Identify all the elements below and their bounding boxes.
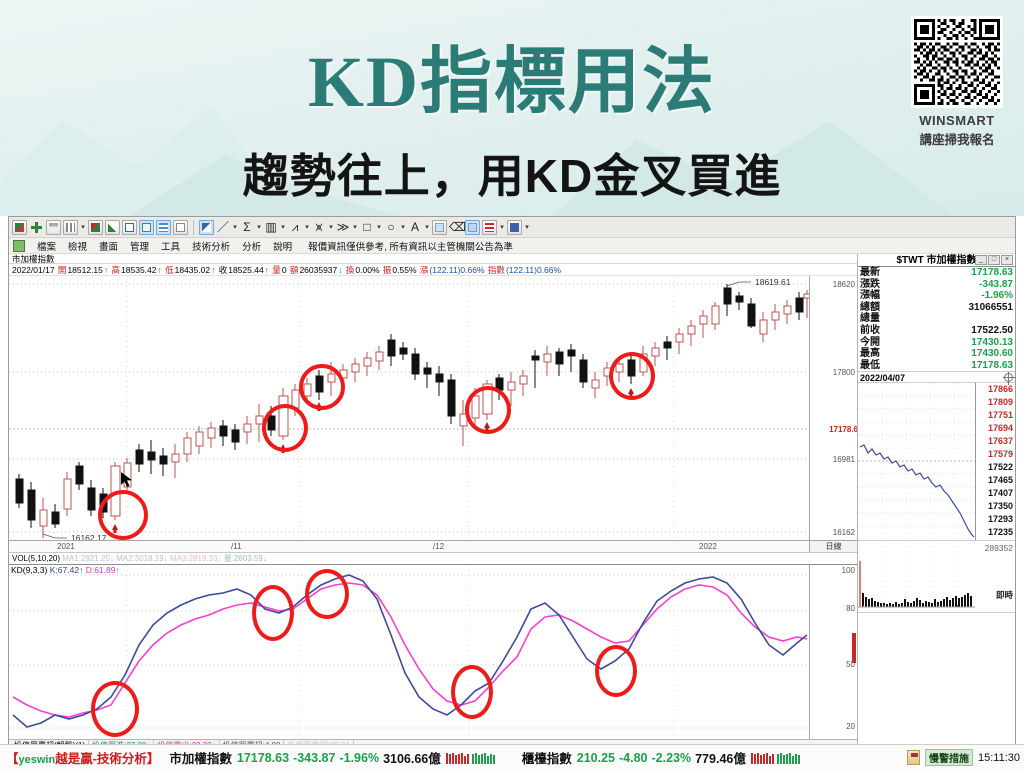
color-chart-icon[interactable] xyxy=(88,220,103,235)
kd-y-axis: 100 80 50 20 xyxy=(809,565,857,739)
ladder-price-k-0: 17522 xyxy=(988,462,1013,472)
kd-y-tick-20: 20 xyxy=(846,722,855,731)
ohlc-close-label: 收 xyxy=(219,265,228,275)
text-tool-icon[interactable]: A xyxy=(408,220,422,235)
status-item1-amount: 3106.66億 xyxy=(383,748,441,767)
ohlc-low-arrow: ↑ xyxy=(211,265,215,275)
intraday-volume-plot xyxy=(858,541,975,612)
ladder-price-k-4: 17293 xyxy=(988,514,1013,524)
quote-value-low: 17178.63 xyxy=(971,360,1013,372)
crosshair-icon[interactable] xyxy=(29,220,44,235)
kd-k-value: K:67.42↑ xyxy=(50,565,84,575)
status-item2-amount: 779.46億 xyxy=(695,748,746,767)
gann-dropdown-arrow-icon[interactable]: ▾ xyxy=(304,220,310,235)
volume-ma2: MA2:3018.19↓ xyxy=(116,554,168,563)
quote-rows: 最新17178.63 漲跌-343.87 漲幅-1.96% 總額31066551… xyxy=(858,267,1015,371)
save-dropdown-arrow-icon[interactable]: ▾ xyxy=(524,220,530,235)
settings-window-icon[interactable] xyxy=(465,220,480,235)
fibonacci-tool-icon[interactable]: Σ xyxy=(240,220,254,235)
slide-subtitle: 趨勢往上，用KD金叉買進 xyxy=(0,140,1024,206)
eraser-icon[interactable]: ⌫ xyxy=(449,220,463,235)
status-brand-yeswin: yeswin xyxy=(19,754,56,766)
candlestick-plot: 16162.17 18619.61 xyxy=(9,276,809,540)
ohlc-date: 2022/01/17 xyxy=(12,265,55,275)
period-label[interactable]: 日線 xyxy=(809,540,857,552)
status-item2-pct: -2.23% xyxy=(652,751,692,765)
ohlc-change-value: (122.11)0.66% xyxy=(429,265,484,275)
save-icon[interactable] xyxy=(507,220,522,235)
ohlc-turnover-label: 換 xyxy=(346,265,355,275)
gann-tool-icon[interactable]: ⩘ xyxy=(288,220,302,235)
quote-row-total-volume: 總量 xyxy=(860,313,1013,325)
quote-date-text: 2022/04/07 xyxy=(860,373,905,383)
app-logo-icon xyxy=(13,240,25,252)
wave-tool-icon[interactable]: ≫ xyxy=(336,220,350,235)
menu-item-analysis[interactable]: 分析 xyxy=(236,239,267,253)
ladder-price-k-2: 17407 xyxy=(988,488,1013,498)
status-item1-sparkline xyxy=(446,752,498,764)
kd-d-value: D:61.89↑ xyxy=(86,565,120,575)
status-bar-right: 慢警措施 15:11:30 xyxy=(907,749,1024,766)
quote-row-change: 漲跌-343.87 xyxy=(860,279,1013,291)
channel-dropdown-arrow-icon[interactable]: ▾ xyxy=(280,220,286,235)
volume-indicator-title: VOL(5,10,20) xyxy=(12,554,60,563)
kd-indicator-panel[interactable]: KD(9,3,3) K:67.42↑ D:61.89↑ xyxy=(9,564,857,739)
ladder-price-k-1: 17465 xyxy=(988,475,1013,485)
quote-key-total-amount: 總額 xyxy=(860,302,880,314)
trendline-dropdown-arrow-icon[interactable]: ▾ xyxy=(232,220,238,235)
window-controls: _ □ × xyxy=(975,255,1013,265)
ladder-price-k-3: 17350 xyxy=(988,501,1013,511)
layout-icon[interactable] xyxy=(46,220,61,235)
slide-root: KD指標用法 趨勢往上，用KD金叉買進 xyxy=(0,0,1024,770)
price-x-tick-3: 2022 xyxy=(699,542,717,551)
ohlc-close-arrow: ↑ xyxy=(265,265,269,275)
ohlc-amount-label: 額 xyxy=(290,265,299,275)
quote-key-low: 最低 xyxy=(860,360,880,372)
chart-area: 市加權指數 2022/01/17 開18512.15↑ 高18535.42↑ 低… xyxy=(9,254,857,763)
symbol-header: 市加權指數 xyxy=(9,254,857,264)
channel-tool-icon[interactable]: ▥ xyxy=(264,220,278,235)
ellipse-dropdown-arrow-icon[interactable]: ▾ xyxy=(400,220,406,235)
menu-item-file[interactable]: 檔案 xyxy=(31,239,62,253)
title-banner: KD指標用法 趨勢往上，用KD金叉買進 xyxy=(0,0,1024,216)
quote-value-total-amount: 31066551 xyxy=(969,302,1014,314)
kd-current-marker xyxy=(852,633,856,663)
ohlc-turnover-value: 0.00% xyxy=(355,265,379,275)
bell-icon[interactable] xyxy=(907,750,920,765)
price-x-tick-2: /12 xyxy=(433,542,444,551)
ohlc-volume-value: 0 xyxy=(282,265,287,275)
ladder-price-r-3: 17694 xyxy=(988,423,1013,433)
blue-window-icon[interactable] xyxy=(122,220,137,235)
ohlc-open-value: 18512.15 xyxy=(67,265,102,275)
status-item1-change: -343.87 xyxy=(293,751,335,765)
status-brand-text: 越是贏-技術分析 xyxy=(55,752,147,766)
quote-panel-filler xyxy=(858,613,1015,749)
price-current-label: 17178.6 xyxy=(829,425,858,434)
price-y-tick-3: 16162 xyxy=(833,528,855,537)
columns-icon[interactable] xyxy=(63,220,78,235)
price-y-tick-0: 18620 xyxy=(833,280,855,289)
kd-header: KD(9,3,3) K:67.42↑ D:61.89↑ xyxy=(11,565,120,575)
trading-app-window: ▾ ／ ▾ Σ ▾ ▥ ▾ ⩘ ▾ ⩙ ▾ ≫ ▾ □ ▾ ○ ▾ A xyxy=(8,216,1016,762)
ohlc-high-value: 18535.42 xyxy=(121,265,156,275)
status-item1-pct: -1.96% xyxy=(339,751,379,765)
quote-row-open: 今開17430.13 xyxy=(860,337,1013,349)
price-y-axis: 18620 17800 17178.6 16981 16162 xyxy=(809,276,857,552)
kd-title: KD(9,3,3) xyxy=(11,565,47,575)
maximize-button[interactable]: □ xyxy=(988,255,1000,265)
ohlc-change-label: 漲 xyxy=(420,265,429,275)
new-chart-icon[interactable] xyxy=(12,220,27,235)
toolbar-separator-1 xyxy=(193,220,194,235)
ladder-price-r-0: 17866 xyxy=(988,384,1013,394)
volume-value: 量:2603.59↓ xyxy=(224,554,267,563)
pitchfork-tool-icon[interactable]: ⩙ xyxy=(312,220,326,235)
price-ladder: 17866 17809 17751 17694 17637 17579 1752… xyxy=(975,383,1015,540)
ohlc-amplitude-value: 0.55% xyxy=(392,265,416,275)
rectangle-tool-icon[interactable]: □ xyxy=(360,220,374,235)
menu-bar: 檔案 檢視 畫面 管理 工具 技術分析 分析 說明 報價資訊僅供參考, 所有資訊… xyxy=(9,238,1015,254)
status-item2-sparkline xyxy=(751,752,803,764)
intraday-plot xyxy=(858,383,975,540)
green-chart-icon[interactable] xyxy=(105,220,120,235)
qr-caption-label: 講座掃我報名 xyxy=(904,129,1010,148)
volume-indicator-strip[interactable]: VOL(5,10,20) MA1:2921.20↓ MA2:3018.19↓ M… xyxy=(9,552,857,564)
quote-key-open: 今開 xyxy=(860,337,880,349)
svg-text:16162.17: 16162.17 xyxy=(71,533,107,540)
quote-value-open: 17430.13 xyxy=(971,337,1013,349)
status-item1-name[interactable]: 市加權指數 xyxy=(169,748,232,767)
quote-row-total-amount: 總額31066551 xyxy=(860,302,1013,314)
quote-value-prev-close: 17522.50 xyxy=(971,325,1013,337)
ohlc-low-value: 18435.02 xyxy=(175,265,210,275)
qr-brand-label: WINSMART xyxy=(904,113,1010,128)
intraday-volume-label: 即時 xyxy=(996,589,1013,601)
kd-y-tick-80: 80 xyxy=(846,604,855,613)
ohlc-volume-label: 量 xyxy=(272,265,281,275)
intraday-volume-max: 289352 xyxy=(985,543,1013,553)
svg-text:18619.61: 18619.61 xyxy=(755,277,791,287)
search-window-icon[interactable] xyxy=(173,220,188,235)
intraday-volume-chart[interactable]: 289352 即時 xyxy=(858,541,1015,613)
clock-label: 15:11:30 xyxy=(978,752,1020,764)
ohlc-high-label: 高 xyxy=(112,265,121,275)
kd-plot xyxy=(9,565,809,739)
menu-item-technical-analysis[interactable]: 技術分析 xyxy=(186,239,236,253)
ohlc-open-arrow: ↑ xyxy=(104,265,108,275)
ladder-price-r-4: 17637 xyxy=(988,436,1013,446)
price-y-tick-1: 17800 xyxy=(833,368,855,377)
minimize-button[interactable]: _ xyxy=(975,255,987,265)
quote-key-high: 最高 xyxy=(860,348,880,360)
status-brand-open: 【 xyxy=(6,752,19,766)
ladder-price-r-2: 17751 xyxy=(988,410,1013,420)
teal-window-icon[interactable] xyxy=(139,220,154,235)
menu-item-tools[interactable]: 工具 xyxy=(155,239,186,253)
ladder-price-k-5: 17235 xyxy=(988,527,1013,537)
quote-key-change-pct: 漲幅 xyxy=(860,290,880,302)
list-icon[interactable] xyxy=(482,220,497,235)
candlestick-chart[interactable]: 16162.17 18619.61 xyxy=(9,276,857,552)
status-item2-change: -4.80 xyxy=(619,751,648,765)
price-x-tick-1: /11 xyxy=(231,542,242,551)
status-brand-close: 】 xyxy=(147,752,160,766)
ohlc-open-label: 開 xyxy=(58,265,67,275)
quote-panel: $TWT 市加權指數 最新17178.63 漲跌-343.87 漲幅-1.96%… xyxy=(857,254,1015,763)
copy-icon[interactable] xyxy=(432,220,447,235)
quote-value-last: 17178.63 xyxy=(971,267,1013,279)
qr-block: WINSMART 講座掃我報名 xyxy=(904,16,1010,148)
quote-row-prev-close: 前收17522.50 xyxy=(860,325,1013,337)
ohlc-info-line: 2022/01/17 開18512.15↑ 高18535.42↑ 低18435.… xyxy=(9,264,857,276)
price-x-axis: 2021 /11 /12 2022 xyxy=(9,540,809,552)
wave-dropdown-arrow-icon[interactable]: ▾ xyxy=(352,220,358,235)
multi-window-icon[interactable] xyxy=(156,220,171,235)
menu-item-screen[interactable]: 畫面 xyxy=(93,239,124,253)
price-x-tick-0: 2021 xyxy=(57,542,75,551)
close-button[interactable]: × xyxy=(1001,255,1013,265)
status-brand: 【yeswin越是贏-技術分析】 xyxy=(6,748,159,767)
quote-date: 2022/04/07 xyxy=(858,371,1015,383)
quote-row-last: 最新17178.63 xyxy=(860,267,1013,279)
ellipse-tool-icon[interactable]: ○ xyxy=(384,220,398,235)
quote-key-prev-close: 前收 xyxy=(860,325,880,337)
rectangle-dropdown-arrow-icon[interactable]: ▾ xyxy=(376,220,382,235)
quote-key-last: 最新 xyxy=(860,267,880,279)
text-dropdown-arrow-icon[interactable]: ▾ xyxy=(424,220,430,235)
menu-item-view[interactable]: 檢視 xyxy=(62,239,93,253)
ohlc-low-label: 低 xyxy=(165,265,174,275)
status-item2-name[interactable]: 櫃檯指數 xyxy=(522,748,572,767)
quote-value-change-pct: -1.96% xyxy=(981,290,1013,302)
draw-tool-icon[interactable] xyxy=(199,220,214,235)
qr-code-icon xyxy=(911,16,1003,108)
intraday-chart[interactable]: 17866 17809 17751 17694 17637 17579 1752… xyxy=(858,383,1015,541)
fibonacci-dropdown-arrow-icon[interactable]: ▾ xyxy=(256,220,262,235)
price-y-tick-2: 16981 xyxy=(833,455,855,464)
slide-title: KD指標用法 xyxy=(0,22,1024,127)
pitchfork-dropdown-arrow-icon[interactable]: ▾ xyxy=(328,220,334,235)
ohlc-amount-arrow: ↓ xyxy=(338,265,342,275)
kd-y-tick-100: 100 xyxy=(842,566,855,575)
quote-row-high: 最高17430.60 xyxy=(860,348,1013,360)
quote-row-low: 最低17178.63 xyxy=(860,360,1013,372)
status-item2-price: 210.25 xyxy=(577,751,615,765)
list-dropdown-arrow-icon[interactable]: ▾ xyxy=(499,220,505,235)
quote-value-change: -343.87 xyxy=(979,279,1013,291)
ohlc-amount-value: 26035937 xyxy=(299,265,337,275)
quote-key-total-volume: 總量 xyxy=(860,313,880,325)
trendline-tool-icon[interactable]: ／ xyxy=(216,220,230,235)
status-bar: 【yeswin越是贏-技術分析】 市加權指數 17178.63 -343.87 … xyxy=(0,744,1024,770)
volume-ma3: MA3:2819.33↓ xyxy=(170,554,222,563)
status-item1-price: 17178.63 xyxy=(237,751,289,765)
quote-value-high: 17430.60 xyxy=(971,348,1013,360)
quote-row-change-pct: 漲幅-1.96% xyxy=(860,290,1013,302)
columns-dropdown-arrow-icon[interactable]: ▾ xyxy=(80,220,86,235)
alert-badge[interactable]: 慢警措施 xyxy=(925,749,973,766)
menu-item-manage[interactable]: 管理 xyxy=(124,239,155,253)
ohlc-high-arrow: ↑ xyxy=(157,265,161,275)
ohlc-index-label: 指數 xyxy=(488,265,505,275)
app-body: 市加權指數 2022/01/17 開18512.15↑ 高18535.42↑ 低… xyxy=(9,254,1015,763)
crosshair-icon[interactable] xyxy=(1004,373,1013,382)
ladder-price-r-1: 17809 xyxy=(988,397,1013,407)
ladder-price-r-5: 17579 xyxy=(988,449,1013,459)
ohlc-amplitude-label: 振 xyxy=(383,265,392,275)
menu-item-help[interactable]: 說明 xyxy=(267,239,298,253)
ohlc-close-value: 18525.44 xyxy=(228,265,263,275)
quote-key-change: 漲跌 xyxy=(860,279,880,291)
main-toolbar: ▾ ／ ▾ Σ ▾ ▥ ▾ ⩘ ▾ ⩙ ▾ ≫ ▾ □ ▾ ○ ▾ A xyxy=(9,217,1015,238)
menu-disclaimer-note: 報價資訊僅供參考, 所有資訊以主管機關公告為準 xyxy=(298,239,513,253)
volume-ma1: MA1:2921.20↓ xyxy=(62,554,114,563)
ohlc-index-change: (122.11)0.66% xyxy=(506,265,561,275)
